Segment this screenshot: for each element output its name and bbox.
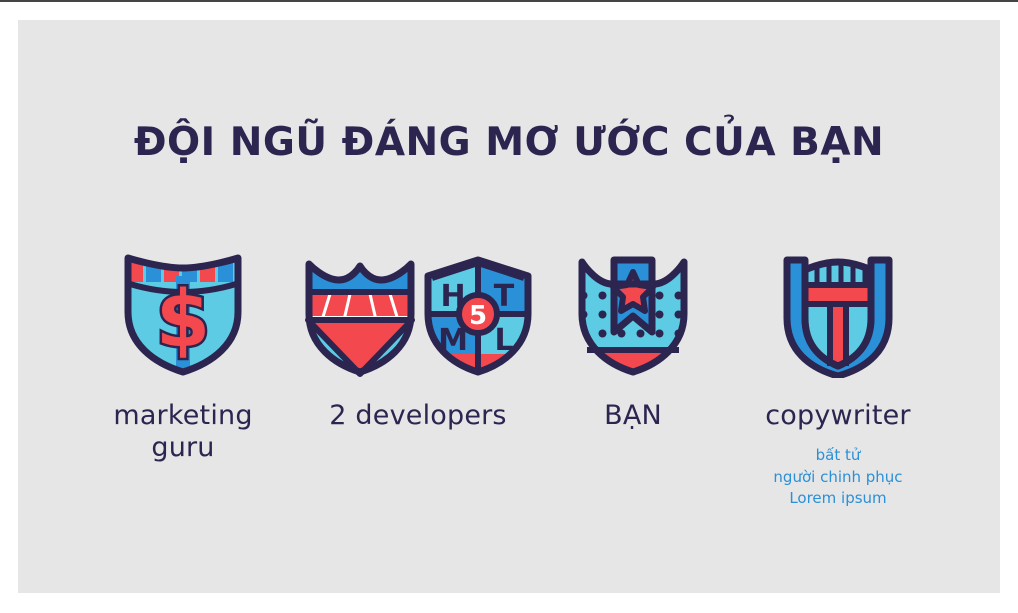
tower-shield-badge [779,248,897,378]
badge-group: H T M L 5 [302,242,534,378]
team-member-developers[interactable]: H T M L 5 [308,242,528,432]
team-member-copywriter[interactable]: copywriter bất tử người chinh phục Lorem… [738,242,938,510]
label-line-1: 2 developers [329,400,506,432]
team-member-marketing-guru[interactable]: $ marketing guru [88,242,278,464]
badge-group [574,242,692,378]
team-member-label: marketing guru [113,400,252,464]
label-line-1: BẠN [604,400,662,432]
team-member-label: copywriter [765,400,910,432]
badge-group [779,242,897,378]
subtext-line-1: bất tử [773,445,902,467]
subtext-line-3: Lorem ipsum [773,488,902,510]
slide-canvas: ĐỘI NGŨ ĐÁNG MƠ ƯỚC CỦA BẠN [18,20,1000,593]
dollar-shield-badge: $ [120,246,246,378]
label-line-1: copywriter [765,400,910,432]
team-member-label: BẠN [604,400,662,432]
html5-shield-badge: H T M L 5 [422,250,534,378]
team-member-subtext: bất tử người chinh phục Lorem ipsum [773,445,902,510]
diamond-shield-badge [302,250,418,378]
team-member-row: $ marketing guru [88,242,938,510]
top-rule [0,0,1018,2]
label-line-1: marketing [113,400,252,432]
team-member-you[interactable]: BẠN [558,242,708,432]
subtext-line-2: người chinh phục [773,467,902,489]
badge-group: $ [120,242,246,378]
page-title: ĐỘI NGŨ ĐÁNG MƠ ƯỚC CỦA BẠN [18,120,1000,165]
label-line-2: guru [113,432,252,464]
team-member-label: 2 developers [329,400,506,432]
html5-version-number: 5 [469,301,487,331]
star-banner-shield-badge [574,248,692,378]
dollar-symbol: $ [156,275,210,365]
